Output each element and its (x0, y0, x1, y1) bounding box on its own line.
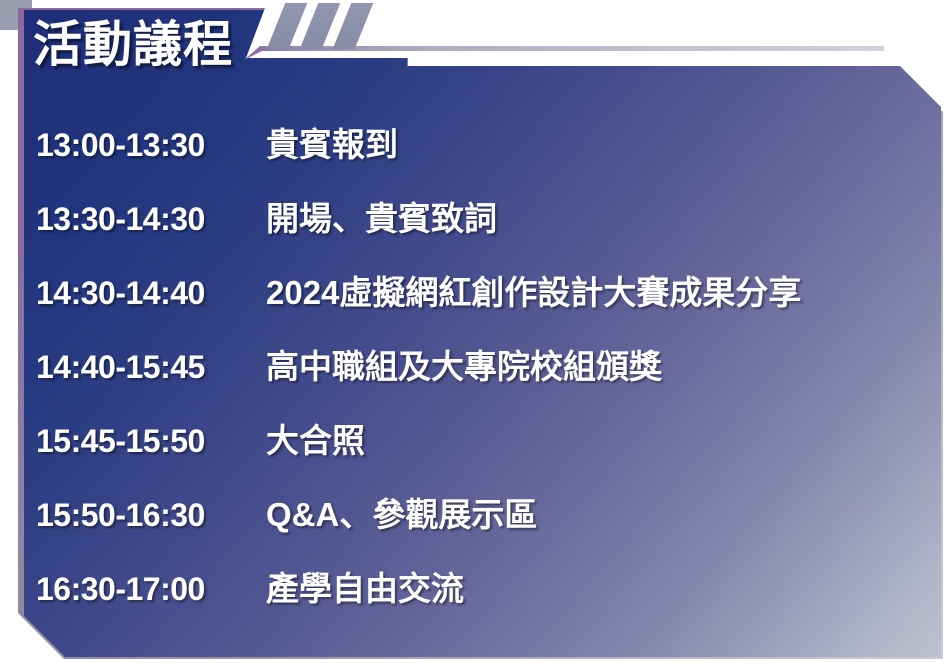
agenda-row-item: 產學自由交流 (266, 562, 941, 610)
agenda-row-time: 13:00-13:30 (24, 127, 266, 164)
agenda-row-time: 15:45-15:50 (24, 423, 266, 460)
agenda-row-time: 15:50-16:30 (24, 497, 266, 534)
agenda-row-item: Q&A、參觀展示區 (266, 488, 941, 536)
agenda-row-item: 大合照 (266, 414, 941, 462)
agenda-row: 13:30-14:30 開場、貴賓致詞 (24, 192, 941, 266)
page-title: 活動議程 (33, 21, 233, 70)
agenda-row-item: 開場、貴賓致詞 (266, 192, 941, 240)
agenda-row: 14:40-15:45 高中職組及大專院校組頒獎 (24, 340, 941, 414)
agenda-row: 16:30-17:00 產學自由交流 (24, 562, 941, 636)
agenda-card: 活動議程 13:00-13:30 貴賓報到 13:30-14:30 開場、貴賓致… (0, 0, 947, 663)
agenda-row-time: 14:40-15:45 (24, 349, 266, 386)
agenda-row: 15:50-16:30 Q&A、參觀展示區 (24, 488, 941, 562)
agenda-list: 13:00-13:30 貴賓報到 13:30-14:30 開場、貴賓致詞 14:… (24, 118, 941, 636)
agenda-row-item: 2024虛擬網紅創作設計大賽成果分享 (266, 266, 941, 314)
agenda-row: 15:45-15:50 大合照 (24, 414, 941, 488)
card-content: 活動議程 13:00-13:30 貴賓報到 13:30-14:30 開場、貴賓致… (24, 10, 941, 657)
agenda-row: 13:00-13:30 貴賓報到 (24, 118, 941, 192)
agenda-row-time: 16:30-17:00 (24, 571, 266, 608)
agenda-row-item: 高中職組及大專院校組頒獎 (266, 340, 941, 388)
agenda-row-time: 13:30-14:30 (24, 201, 266, 238)
agenda-row-item: 貴賓報到 (266, 118, 941, 166)
agenda-row: 14:30-14:40 2024虛擬網紅創作設計大賽成果分享 (24, 266, 941, 340)
agenda-row-time: 14:30-14:40 (24, 275, 266, 312)
